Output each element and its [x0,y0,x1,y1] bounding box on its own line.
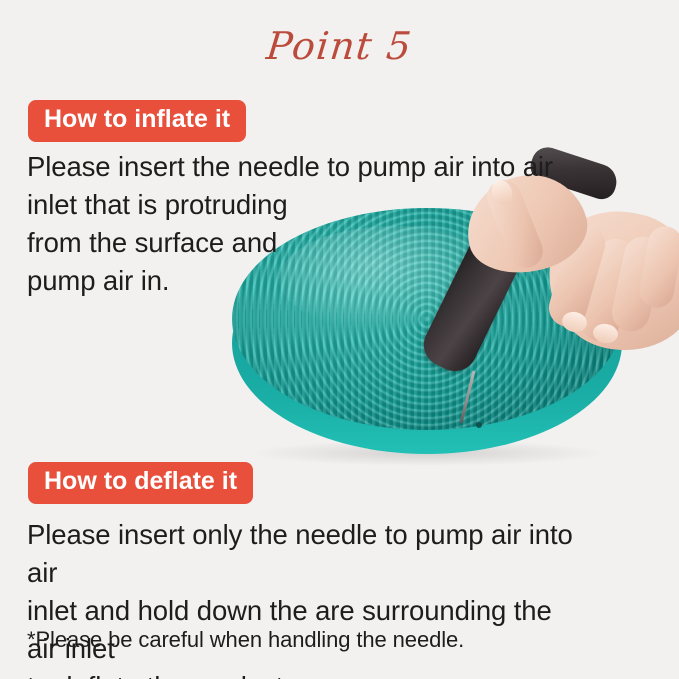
safety-note: *Please be careful when handling the nee… [27,625,464,655]
page-title: Point 5 [0,24,679,68]
badge-how-to-inflate: How to inflate it [28,100,246,142]
needle-insertion-point [476,422,482,428]
infographic-page: Point 5 [0,0,679,679]
inflate-instructions: Please insert the needle to pump air int… [27,148,572,300]
badge-how-to-deflate: How to deflate it [28,462,253,504]
